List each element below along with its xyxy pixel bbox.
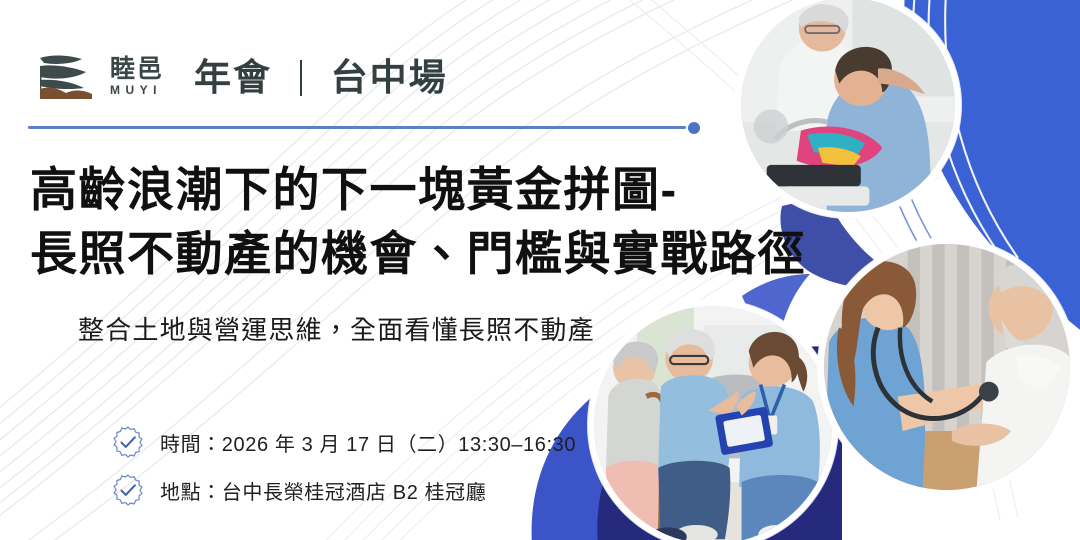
main-title: 高齡浪潮下的下一塊黃金拼圖- 長照不動產的機會、門檻與實戰路徑 [30, 158, 806, 286]
muyi-mountain-logo-icon [38, 52, 96, 102]
header-venue-label: 台中場 [331, 57, 448, 98]
divider-end-dot [688, 122, 700, 134]
banner-header: 睦邑 MUYI 年會 台中場 [38, 52, 448, 102]
event-detail-location: 地點：台中長榮桂冠酒店 B2 桂冠廳 [110, 472, 576, 508]
subtitle: 整合土地與營運思維，全面看懂長照不動產 [78, 310, 595, 347]
header-title-group: 年會 台中場 [194, 59, 448, 96]
blue-shape-bottom-navy [560, 340, 736, 540]
verified-badge-check-icon [110, 472, 146, 508]
header-separator [300, 60, 302, 96]
title-line-2: 長照不動產的機會、門檻與實戰路徑 [30, 222, 806, 286]
title-line-1: 高齡浪潮下的下一塊黃金拼圖- [30, 158, 806, 222]
event-location-text: 地點：台中長榮桂冠酒店 B2 桂冠廳 [160, 476, 486, 505]
event-details: 時間：2026 年 3 月 17 日（二）13:30–16:30 地點：台中長榮… [110, 424, 576, 520]
event-banner: 睦邑 MUYI 年會 台中場 高齡浪潮下的下一塊黃金拼圖- 長照不動產的機會、門… [0, 0, 1080, 540]
brand-wordmark: 睦邑 MUYI [110, 57, 164, 98]
divider-line [28, 126, 686, 129]
brand-name-en: MUYI [110, 83, 164, 97]
event-time-text: 時間：2026 年 3 月 17 日（二）13:30–16:30 [160, 428, 576, 457]
header-divider [28, 122, 700, 134]
event-detail-time: 時間：2026 年 3 月 17 日（二）13:30–16:30 [110, 424, 576, 460]
photo-nurse-consulting-elderly-couple [588, 300, 838, 540]
verified-badge-check-icon [110, 424, 146, 460]
blue-shape-right-wedge [953, 0, 1080, 250]
header-event-label: 年會 [194, 57, 272, 98]
photo-nurse-stethoscope-examining-senior [818, 238, 1076, 496]
brand-name-cn: 睦邑 [110, 57, 164, 83]
